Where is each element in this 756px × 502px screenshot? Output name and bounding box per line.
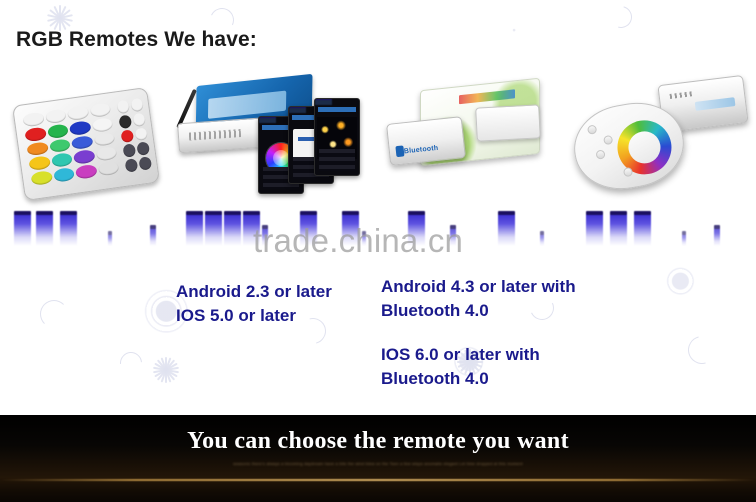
ir-remote-key	[132, 112, 146, 126]
ir-remote-key	[47, 123, 69, 139]
light-bar	[14, 214, 31, 246]
phone-status-bar	[259, 117, 276, 123]
bluetooth-label: Bluetooth	[404, 145, 439, 156]
ir-remote-key	[51, 153, 73, 169]
ir-remote-key	[49, 138, 71, 154]
phone-status-bar	[315, 99, 332, 105]
ir-remote-key	[91, 117, 113, 133]
ir-remote-key	[125, 158, 139, 172]
product-image-canvas: RGB Remotes We have:	[0, 0, 756, 502]
ir-remote-key	[71, 135, 93, 151]
ir-remote-key	[116, 100, 130, 114]
phone-app-screenshot-effects	[314, 98, 360, 176]
light-bar	[36, 214, 53, 246]
ir-remote-key	[24, 126, 46, 142]
ir-remote-photo	[12, 87, 160, 201]
ir-remote-key	[123, 144, 137, 158]
watermark: trade.china.cn	[253, 222, 463, 260]
app-control-rows	[319, 149, 355, 171]
light-bar	[610, 214, 627, 246]
page-title: RGB Remotes We have:	[16, 28, 257, 52]
ir-remote-key	[26, 141, 48, 157]
rf-button	[623, 167, 633, 177]
banner-fine-print: seasonic there's always a blooming daydr…	[0, 461, 756, 466]
light-bar	[186, 214, 203, 246]
ir-remote-key	[22, 112, 44, 128]
light-bar	[224, 214, 241, 246]
light-bar	[634, 214, 651, 246]
spec-line: IOS 5.0 or later	[176, 304, 332, 328]
rf-button	[603, 135, 613, 145]
spec-wifi-compatibility: Android 2.3 or later IOS 5.0 or later	[176, 280, 332, 328]
ir-remote-key	[73, 149, 95, 165]
ir-remote-key	[28, 156, 50, 172]
spec-line: Bluetooth 4.0	[381, 299, 576, 323]
gold-divider-line	[0, 479, 756, 481]
ir-remote-key	[69, 120, 91, 136]
light-bar	[205, 214, 222, 246]
ir-remote-key	[67, 105, 89, 121]
product-photo-row: Bluetooth	[0, 58, 756, 208]
phone-title-bar	[318, 107, 356, 112]
ir-remote-key	[45, 109, 67, 125]
rf-button	[587, 124, 597, 134]
ir-remote-key	[95, 146, 117, 162]
light-bar	[150, 228, 156, 246]
light-bar	[108, 234, 112, 246]
swirl-ornament	[40, 300, 68, 328]
light-bar	[586, 214, 603, 246]
light-bar	[60, 214, 77, 246]
spec-bluetooth-ios: IOS 6.0 or later with Bluetooth 4.0	[381, 343, 540, 391]
rf-colour-touch-ring	[613, 116, 676, 179]
ir-remote-key	[136, 142, 150, 156]
spec-line: Android 4.3 or later with	[381, 275, 576, 299]
phone-status-bar	[289, 107, 306, 113]
spec-line: Android 2.3 or later	[176, 280, 332, 304]
banner-headline: You can choose the remote you want	[0, 428, 756, 455]
spec-line: IOS 6.0 or later with	[381, 343, 540, 367]
light-bar	[714, 228, 720, 246]
ir-remote-key	[134, 127, 148, 141]
bluetooth-controller-unit: Bluetooth	[386, 116, 466, 166]
spec-line: Bluetooth 4.0	[381, 367, 540, 391]
ir-remote-colour-keypad	[22, 102, 119, 186]
ir-remote-key	[138, 156, 152, 170]
rf-button	[595, 149, 605, 159]
light-bar	[540, 234, 544, 246]
ir-remote-key	[89, 102, 111, 118]
bottom-banner: You can choose the remote you want seaso…	[0, 415, 756, 502]
light-bar	[682, 234, 686, 246]
ir-remote-key	[118, 114, 132, 128]
ir-remote-key	[93, 132, 115, 148]
bluetooth-unit-on-box	[475, 104, 541, 141]
ir-remote-key	[130, 98, 144, 112]
light-bar	[498, 214, 515, 246]
ir-remote-key	[120, 129, 134, 143]
spec-bluetooth-android: Android 4.3 or later with Bluetooth 4.0	[381, 275, 576, 323]
